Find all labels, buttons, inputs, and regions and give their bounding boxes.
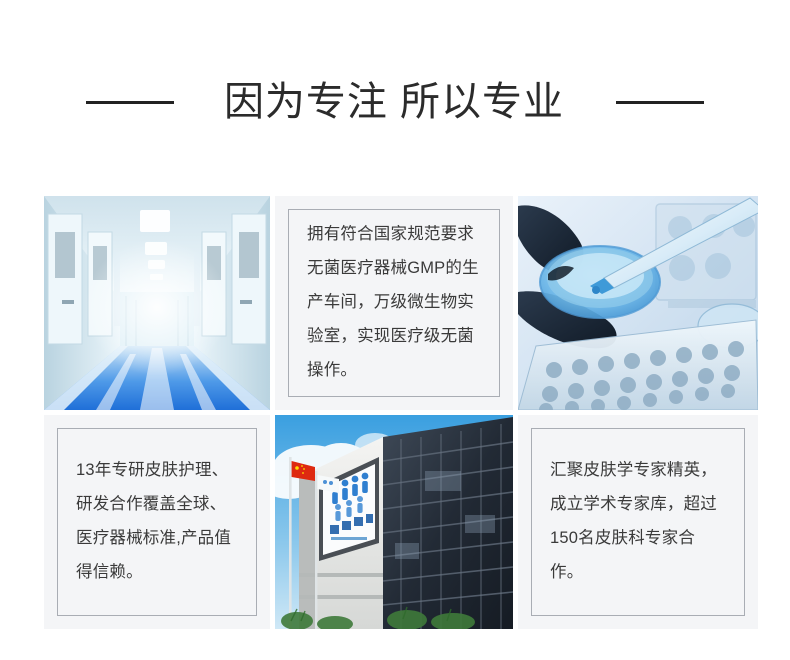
gmp-workshop-textbox: 拥有符合国家规范要求无菌医疗器械GMP的生产车间，万级微生物实验室，实现医疗级无…: [288, 209, 500, 397]
cleanroom-corridor-illustration: [44, 196, 270, 410]
expert-network-textbox: 汇聚皮肤学专家精英，成立学术专家库，超过150名皮肤科专家合作。: [531, 428, 745, 616]
header-rule-right: [616, 101, 704, 104]
laboratory-petri-dish-photo: [518, 196, 758, 410]
feature-grid: 拥有符合国家规范要求无菌医疗器械GMP的生产车间，万级微生物实验室，实现医疗级无…: [44, 196, 758, 629]
page-header: 因为专注 所以专业: [0, 62, 790, 142]
expert-network-text: 汇聚皮肤学专家精英，成立学术专家库，超过150名皮肤科专家合作。: [550, 454, 726, 589]
header-rule-left: [86, 101, 174, 104]
research-history-text: 13年专研皮肤护理、研发合作覆盖全球、医疗器械标准,产品值得信赖。: [76, 454, 238, 589]
laboratory-illustration: [518, 196, 758, 410]
gmp-workshop-text-panel: 拥有符合国家规范要求无菌医疗器械GMP的生产车间，万级微生物实验室，实现医疗级无…: [275, 196, 513, 410]
company-building-illustration: [275, 415, 513, 629]
research-history-text-panel: 13年专研皮肤护理、研发合作覆盖全球、医疗器械标准,产品值得信赖。: [44, 415, 270, 629]
gmp-workshop-text: 拥有符合国家规范要求无菌医疗器械GMP的生产车间，万级微生物实验室，实现医疗级无…: [307, 218, 481, 387]
research-history-textbox: 13年专研皮肤护理、研发合作覆盖全球、医疗器械标准,产品值得信赖。: [57, 428, 257, 616]
page-title: 因为专注 所以专业: [224, 82, 564, 122]
expert-network-text-panel: 汇聚皮肤学专家精英，成立学术专家库，超过150名皮肤科专家合作。: [518, 415, 758, 629]
company-building-photo: [275, 415, 513, 629]
promo-page: 因为专注 所以专业: [0, 0, 790, 660]
cleanroom-corridor-photo: [44, 196, 270, 410]
